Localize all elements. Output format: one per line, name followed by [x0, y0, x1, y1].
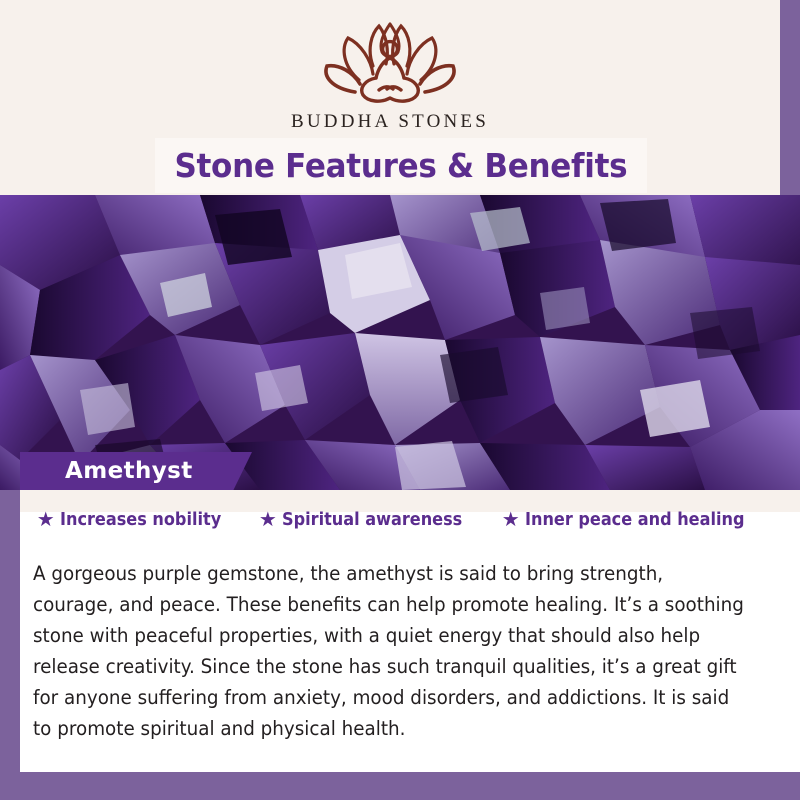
benefit-label: Increases nobility	[60, 510, 221, 530]
frame-bottom-border	[0, 772, 800, 800]
benefits-row: ★ Increases nobility ★ Spiritual awarene…	[20, 510, 780, 530]
benefit-label: Inner peace and healing	[525, 510, 744, 530]
stone-description: A gorgeous purple gemstone, the amethyst…	[33, 558, 747, 744]
benefit-item-0: ★ Increases nobility	[37, 510, 235, 530]
page-title: Stone Features & Benefits	[175, 146, 628, 185]
stone-name-banner: Amethyst	[20, 452, 252, 490]
brand-name: BUDDHA STONES	[0, 111, 780, 133]
panel-top-tint	[20, 490, 800, 512]
star-icon: ★	[259, 510, 277, 530]
section-title-band: Stone Features & Benefits	[155, 138, 647, 193]
header-area: BUDDHA STONES Stone Features & Benefits	[0, 0, 780, 195]
brand-logo: BUDDHA STONES	[0, 14, 780, 133]
frame-left-border	[0, 490, 20, 780]
benefit-item-1: ★ Spiritual awareness	[259, 510, 478, 530]
lotus-meditation-icon	[315, 14, 465, 109]
amethyst-photo	[0, 195, 800, 490]
product-info-card: BUDDHA STONES Stone Features & Benefits	[0, 0, 800, 800]
star-icon: ★	[37, 510, 55, 530]
star-icon: ★	[502, 510, 520, 530]
benefit-item-2: ★ Inner peace and healing	[502, 510, 764, 530]
stone-name-label: Amethyst	[65, 458, 193, 484]
benefit-label: Spiritual awareness	[282, 510, 462, 530]
